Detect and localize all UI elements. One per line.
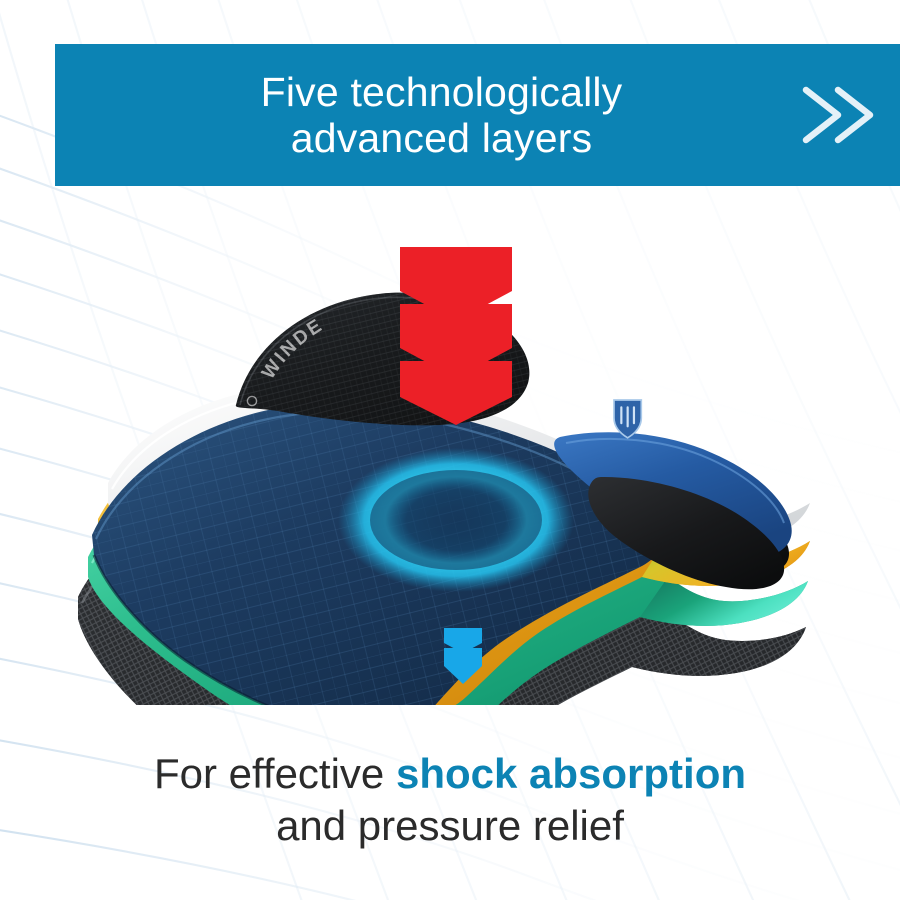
caption-accent: shock absorption [396, 750, 746, 797]
caption-prefix: For effective [154, 750, 396, 797]
header-banner: Five technologically advanced layers [55, 44, 900, 186]
shock-absorption-glow [338, 448, 574, 592]
banner-title: Five technologically advanced layers [55, 69, 783, 162]
caption-line-2: and pressure relief [0, 800, 900, 852]
caption-block: For effective shock absorption and press… [0, 748, 900, 852]
shield-logo-icon [614, 400, 641, 438]
infographic-page: Five technologically advanced layers [0, 0, 900, 900]
double-chevron-right-icon[interactable] [783, 80, 888, 150]
caption-line-1: For effective shock absorption [0, 748, 900, 800]
downward-dispersion-arrow [444, 628, 482, 684]
downward-impact-arrow [400, 247, 512, 425]
